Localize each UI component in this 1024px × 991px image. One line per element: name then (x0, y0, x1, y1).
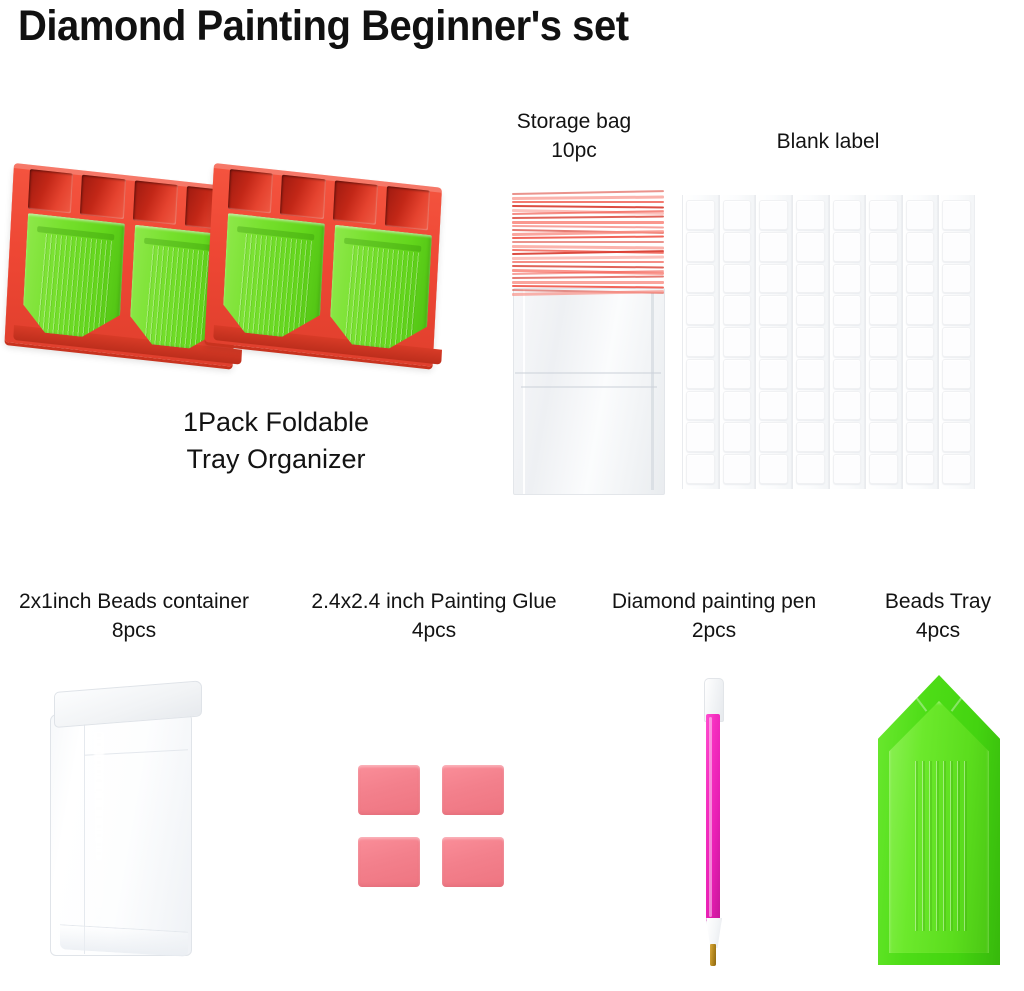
pen-slot (332, 180, 377, 224)
caption-line: 4pcs (288, 617, 580, 646)
label-cell (686, 454, 715, 484)
label-cell (942, 200, 971, 230)
caption-beads-tray: Beads Tray 4pcs (858, 588, 1018, 645)
glue-square (358, 765, 420, 815)
label-cell (906, 391, 935, 421)
green-bead-tray (329, 225, 432, 353)
label-cell (906, 327, 935, 357)
label-cell (833, 327, 862, 357)
caption-beads-container: 2x1inch Beads container 8pcs (0, 588, 268, 645)
bag-body (513, 288, 665, 495)
label-column (792, 195, 829, 489)
beads-tray-grooves (911, 761, 967, 931)
container-side-panel (50, 720, 85, 954)
label-cell (869, 264, 898, 294)
bag-zip-line (512, 276, 664, 279)
label-cell (906, 200, 935, 230)
label-cell (759, 422, 788, 452)
pen-slot (385, 186, 430, 230)
beads-tray-wall (889, 701, 989, 953)
label-cell (869, 200, 898, 230)
caption-line: Blank label (728, 128, 928, 157)
bag-zip-line (512, 221, 664, 224)
bag-zip-line (512, 196, 664, 200)
label-cell (686, 232, 715, 262)
label-cell (833, 200, 862, 230)
pen-slot (280, 175, 325, 219)
label-column (682, 195, 719, 489)
label-cell (723, 232, 752, 262)
bag-zip-line (512, 281, 664, 284)
product-storage-bag (511, 190, 667, 496)
label-cell (723, 264, 752, 294)
label-cell (869, 327, 898, 357)
label-cell (942, 454, 971, 484)
glue-square (442, 765, 504, 815)
caption-blank-label: Blank label (728, 128, 928, 157)
page-title: Diamond Painting Beginner's set (18, 2, 629, 51)
label-cell (942, 359, 971, 389)
label-cell (833, 454, 862, 484)
label-cell (833, 232, 862, 262)
label-cell (686, 391, 715, 421)
label-cell (869, 359, 898, 389)
label-column (755, 195, 792, 489)
bag-fold (521, 386, 657, 388)
label-cell (759, 264, 788, 294)
beads-tray-rim (951, 682, 974, 712)
pen-slot (28, 169, 73, 213)
label-cell (869, 391, 898, 421)
label-cell (723, 391, 752, 421)
bag-zip-line (512, 261, 664, 263)
label-cell (906, 232, 935, 262)
tray-grooves (344, 245, 419, 351)
tray-grooves (237, 233, 312, 339)
glue-square (442, 837, 504, 887)
label-cell (833, 422, 862, 452)
caption-line: 2.4x2.4 inch Painting Glue (288, 588, 580, 617)
label-column (829, 195, 866, 489)
product-blank-label-sheet (682, 195, 975, 489)
tray-half-right (208, 155, 448, 370)
glue-square (358, 837, 420, 887)
label-cell (723, 295, 752, 325)
label-cell (759, 454, 788, 484)
green-tray-row (222, 213, 432, 352)
label-cell (796, 232, 825, 262)
label-cell (759, 391, 788, 421)
green-tray-row (22, 213, 232, 352)
label-cell (942, 327, 971, 357)
label-cell (686, 359, 715, 389)
label-cell (796, 264, 825, 294)
label-cell (796, 327, 825, 357)
caption-line: Diamond painting pen (594, 588, 834, 617)
label-cell (686, 295, 715, 325)
label-cell (833, 391, 862, 421)
container-highlight (94, 732, 104, 932)
bag-zip-line (512, 256, 664, 260)
product-beads-container (38, 692, 204, 964)
label-cell (906, 295, 935, 325)
label-cell (796, 454, 825, 484)
label-cell (869, 295, 898, 325)
caption-line: Tray Organizer (106, 441, 446, 478)
label-cell (796, 359, 825, 389)
label-cell (906, 454, 935, 484)
pen-tip-icon (710, 944, 716, 966)
pen-slot (132, 180, 177, 224)
bag-zip-line (512, 285, 664, 288)
caption-painting-pen: Diamond painting pen 2pcs (594, 588, 834, 645)
pen-slot (80, 175, 125, 219)
label-cell (796, 391, 825, 421)
bag-fold (515, 372, 661, 374)
label-cell (723, 359, 752, 389)
label-cell (723, 454, 752, 484)
caption-line: Beads Tray (858, 588, 1018, 617)
green-bead-tray (222, 213, 325, 341)
label-cell (869, 422, 898, 452)
label-cell (796, 422, 825, 452)
label-cell (686, 200, 715, 230)
bag-zip-line (512, 225, 664, 228)
bag-zip-strips (511, 190, 667, 298)
label-cell (686, 422, 715, 452)
bag-zip-line (512, 201, 664, 203)
caption-tray-organizer: 1Pack Foldable Tray Organizer (106, 404, 446, 477)
caption-line: 1Pack Foldable (106, 404, 446, 441)
label-cell (869, 232, 898, 262)
caption-line: 8pcs (0, 617, 268, 646)
label-cell (759, 327, 788, 357)
label-cell (906, 264, 935, 294)
bag-zip-line (512, 216, 664, 219)
label-cell (759, 232, 788, 262)
bag-zip-line (512, 265, 664, 268)
beads-tray-rim (904, 682, 927, 712)
pen-barrel (706, 714, 720, 922)
label-column (902, 195, 939, 489)
label-cell (942, 232, 971, 262)
bag-zip-line (512, 241, 664, 243)
label-cell (942, 391, 971, 421)
product-painting-glue (358, 765, 506, 893)
label-column (719, 195, 756, 489)
caption-line: 4pcs (858, 617, 1018, 646)
label-cell (686, 327, 715, 357)
label-cell (759, 359, 788, 389)
label-cell (833, 295, 862, 325)
label-cell (942, 422, 971, 452)
caption-line: 2x1inch Beads container (0, 588, 268, 617)
label-cell (723, 422, 752, 452)
bag-zip-line (512, 205, 664, 208)
label-column (865, 195, 902, 489)
label-cell (759, 200, 788, 230)
label-cell (833, 359, 862, 389)
label-cell (833, 264, 862, 294)
label-cell (906, 359, 935, 389)
label-cell (796, 200, 825, 230)
caption-storage-bag: Storage bag 10pc (468, 108, 680, 165)
product-diamond-painting-pen (700, 678, 726, 968)
caption-line: 10pc (468, 137, 680, 166)
label-cell (723, 200, 752, 230)
label-cell (906, 422, 935, 452)
green-bead-tray (22, 213, 125, 341)
bag-zip-line (512, 236, 664, 239)
label-column (938, 195, 975, 489)
caption-painting-glue: 2.4x2.4 inch Painting Glue 4pcs (288, 588, 580, 645)
pen-slot (228, 169, 273, 213)
product-tray-organizer (8, 155, 460, 370)
label-cell (686, 264, 715, 294)
label-cell (759, 295, 788, 325)
bag-zip-line (512, 190, 664, 195)
label-cell (869, 454, 898, 484)
label-cell (942, 264, 971, 294)
caption-line: Storage bag (468, 108, 680, 137)
product-beads-tray (878, 675, 1000, 965)
label-cell (723, 327, 752, 357)
tray-grooves (37, 233, 112, 339)
label-cell (796, 295, 825, 325)
caption-line: 2pcs (594, 617, 834, 646)
label-cell (942, 295, 971, 325)
